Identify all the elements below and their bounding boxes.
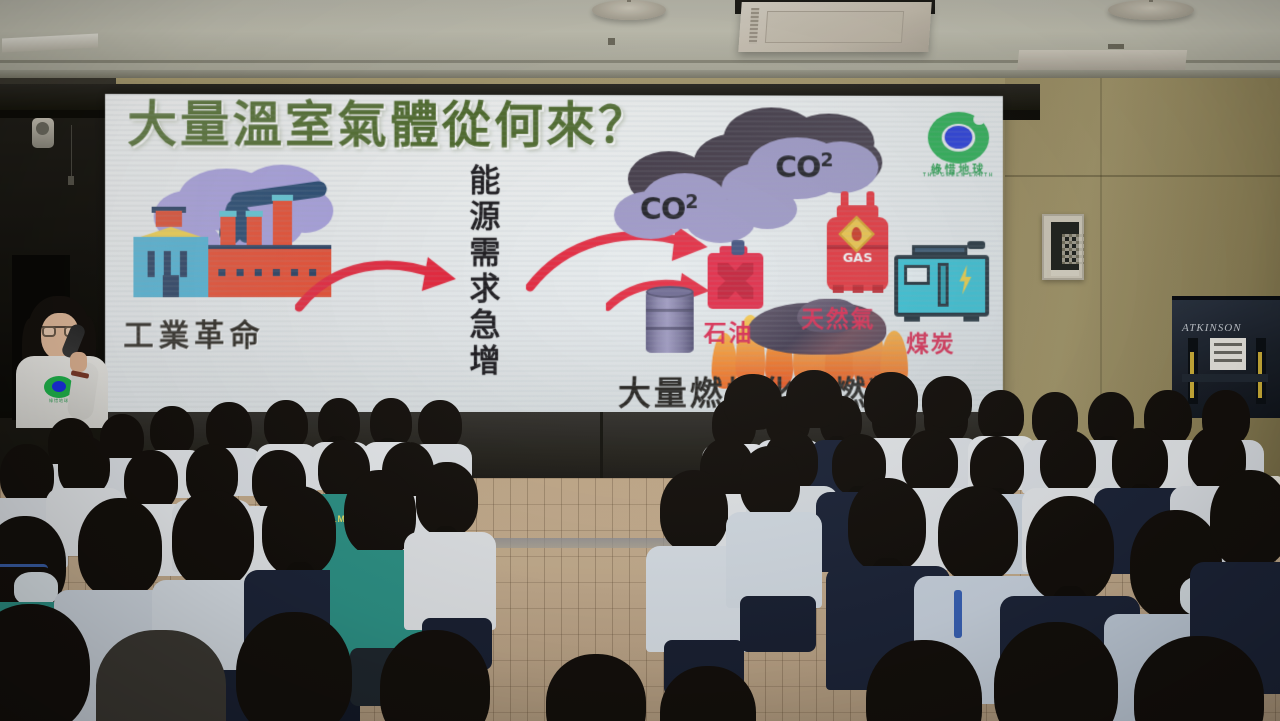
jerry-can-cap bbox=[732, 240, 745, 255]
hall-door bbox=[163, 275, 179, 297]
wall-control-panel[interactable] bbox=[1042, 214, 1084, 280]
label-industrial-revolution: 工業革命 bbox=[123, 310, 264, 354]
jerry-can-emboss bbox=[718, 263, 754, 299]
co2-sup-lower: 2 bbox=[685, 191, 697, 213]
hall-floor bbox=[0, 478, 1280, 721]
vertical-char-2: 源 bbox=[463, 199, 507, 235]
vertical-char-3: 需 bbox=[463, 235, 507, 271]
hall-cupola bbox=[156, 211, 182, 227]
equipment-notice-sign bbox=[1210, 338, 1246, 370]
co2-text-lower: CO bbox=[640, 192, 685, 227]
ceiling-air-conditioner bbox=[738, 2, 931, 52]
presenter: 綠惜地球 bbox=[8, 296, 116, 426]
gas-tank-foot-left bbox=[833, 285, 844, 293]
panel-button-grid bbox=[1062, 234, 1084, 264]
arrow-right-1 bbox=[295, 253, 466, 313]
oil-barrel-lid bbox=[646, 286, 694, 298]
oil-barrel bbox=[646, 291, 694, 353]
stage-spotlight bbox=[32, 118, 54, 148]
screenshot-root: 大量溫室氣體從何來？ bbox=[0, 0, 1280, 721]
smokestack-cap-1 bbox=[219, 211, 236, 217]
equipment-shelf bbox=[1182, 374, 1268, 382]
factory-window-1 bbox=[218, 269, 225, 276]
ceiling-light-fixture bbox=[1017, 50, 1187, 72]
green-earth-logo: 綠惜地球 THE GREEN EARTH bbox=[918, 112, 999, 178]
generator-top-panel bbox=[912, 245, 967, 255]
gas-tank-marking: GAS bbox=[827, 251, 888, 266]
vertical-phrase: 能 源 需 求 急 增 bbox=[463, 163, 507, 379]
hall-window-1 bbox=[148, 251, 155, 277]
generator-foot-left bbox=[904, 315, 920, 322]
logo-blue-dot bbox=[945, 126, 973, 149]
hall-window-2 bbox=[164, 251, 171, 277]
logo-notch bbox=[973, 114, 985, 125]
smokestack-cap-3 bbox=[272, 195, 293, 201]
ceiling-fan-right bbox=[1108, 0, 1194, 20]
gas-tank-foot-mid bbox=[853, 285, 864, 293]
stage-apron-seam-1 bbox=[430, 412, 433, 480]
stage-apron bbox=[108, 412, 1008, 480]
stage-equipment-rack: ATKINSON bbox=[1172, 296, 1280, 418]
hanging-wire bbox=[71, 125, 72, 177]
generator-foot-right bbox=[963, 315, 979, 322]
floor-metal-strip bbox=[0, 538, 1280, 548]
ceiling-fan-left bbox=[592, 0, 666, 20]
factory-window-4 bbox=[273, 269, 280, 276]
generator-screen bbox=[904, 265, 930, 285]
stage-apron-seam-2 bbox=[600, 412, 603, 480]
slide-bottom-caption: 大量燃燒化石燃料 bbox=[618, 366, 904, 414]
vertical-char-4: 求 bbox=[463, 271, 507, 307]
co2-sup-upper: 2 bbox=[820, 149, 832, 171]
ac-panel bbox=[765, 11, 904, 43]
smokestack-cap-2 bbox=[246, 211, 263, 217]
ceiling-fitting-small-2 bbox=[1108, 44, 1124, 49]
wall-seam-horizontal bbox=[1005, 175, 1280, 177]
ceiling-fitting-small bbox=[608, 38, 615, 45]
wall-seam-vertical bbox=[1100, 78, 1102, 478]
generator-handle bbox=[967, 241, 985, 249]
gas-tank-foot-right bbox=[872, 285, 883, 293]
slide-title: 大量溫室氣體從何來？ bbox=[127, 100, 650, 150]
label-natural-gas: 天然氣 bbox=[801, 300, 875, 334]
label-oil: 石油 bbox=[704, 314, 754, 348]
equipment-brand-label: ATKINSON bbox=[1182, 322, 1242, 334]
stage-apron-seam-3 bbox=[790, 412, 793, 480]
logo-name-english: THE GREEN EARTH bbox=[918, 172, 999, 178]
oil-barrel-ring-1 bbox=[646, 309, 694, 312]
vertical-char-1: 能 bbox=[463, 163, 507, 199]
projection-screen: 大量溫室氣體從何來？ bbox=[105, 94, 1003, 414]
label-coal: 煤炭 bbox=[906, 325, 955, 359]
vertical-char-6: 增 bbox=[463, 343, 507, 379]
presenter-hand bbox=[70, 352, 87, 372]
factory-window-3 bbox=[255, 269, 262, 276]
panel-label-strip bbox=[1051, 270, 1079, 276]
vertical-char-5: 急 bbox=[463, 307, 507, 343]
oil-barrel-ring-2 bbox=[646, 327, 694, 330]
petrol-jerry-can bbox=[708, 253, 764, 309]
panel-face bbox=[1051, 222, 1079, 270]
cloud-light-7 bbox=[737, 189, 797, 229]
co2-label-lower: CO2 bbox=[640, 191, 698, 227]
co2-label-upper: CO2 bbox=[775, 149, 832, 185]
ac-vent bbox=[749, 8, 760, 44]
hall-window-3 bbox=[180, 251, 187, 277]
generator-bar bbox=[938, 263, 949, 307]
co2-text-upper: CO bbox=[775, 150, 820, 185]
hanging-fixture bbox=[68, 176, 74, 185]
factory-window-2 bbox=[237, 269, 244, 276]
